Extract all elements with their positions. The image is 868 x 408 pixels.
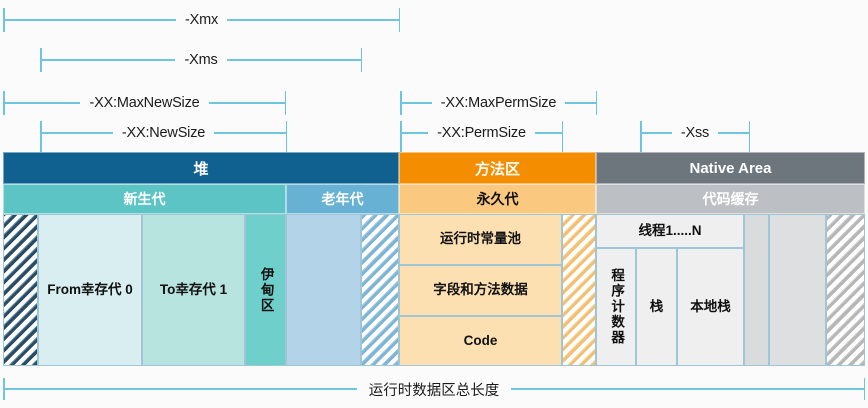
cell-field-method: 字段和方法数据 (399, 265, 562, 316)
cell-label-line: 栈 (650, 298, 664, 316)
bracket-permsize: -XX:PermSize (400, 118, 563, 148)
cell-young-pad-left (3, 214, 38, 366)
cell-label-line: 本地栈 (690, 298, 731, 316)
cell-thread-group: 线程1.....N (596, 214, 744, 248)
cell-old-gen-hatch (361, 214, 399, 366)
cell-label-line: Code (464, 332, 498, 350)
bracket-cap-right (285, 91, 287, 115)
cell-native-gap-2 (769, 214, 826, 366)
total-length-bracket: 运行时数据区总长度 (3, 374, 865, 404)
bracket-label: -XX:NewSize (113, 125, 214, 141)
cell-label-line: To (160, 281, 176, 299)
cell-label-line: From (47, 281, 81, 299)
cell-label-line: 运行时常量池 (440, 230, 521, 248)
total-bracket-cap-right (864, 378, 866, 400)
bracket-label: -Xss (672, 125, 718, 141)
header-native-area: Native Area (596, 152, 865, 184)
cell-stack: 栈 (636, 248, 677, 366)
cell-label-line: 幸存代 0 (81, 281, 133, 299)
cell-survivor-to: To幸存代 1 (142, 214, 245, 366)
cell-pc-register: 程序计数器 (596, 248, 636, 366)
bracket-cap-right (361, 48, 363, 72)
bracket-cap-right (399, 8, 401, 32)
header-method-area: 方法区 (399, 152, 596, 184)
cell-constant-pool: 运行时常量池 (399, 214, 562, 265)
total-bracket-cap-left (3, 378, 5, 400)
subheader-code-cache: 代码缓存 (596, 184, 865, 214)
cell-code: Code (399, 316, 562, 366)
cell-perm-hatch (562, 214, 596, 366)
cell-label-line: 线程1.....N (638, 222, 701, 240)
bracket-cap-left (3, 8, 5, 32)
bracket-newsize: -XX:NewSize (40, 118, 287, 148)
subheader-old-gen: 老年代 (286, 184, 399, 214)
bracket-label: -Xms (175, 52, 226, 68)
jvm-memory-diagram: -Xmx-Xms-XX:MaxNewSize-XX:MaxPermSize-XX… (0, 0, 868, 408)
bracket-cap-left (40, 48, 42, 72)
cell-native-stack: 本地栈 (677, 248, 744, 366)
bracket-xmx: -Xmx (3, 5, 400, 35)
cell-label-line: 幸存代 1 (175, 281, 227, 299)
bracket-xms: -Xms (40, 45, 362, 75)
header-heap: 堆 (3, 152, 399, 184)
bracket-label: -XX:MaxPermSize (432, 95, 565, 111)
bracket-cap-right (596, 91, 598, 115)
cell-label-line: 伊甸区 (256, 267, 274, 314)
bracket-cap-left (3, 91, 5, 115)
cell-native-gap-1 (744, 214, 769, 366)
subheader-young-gen: 新生代 (3, 184, 286, 214)
bracket-maxnewsize: -XX:MaxNewSize (3, 88, 286, 118)
bracket-label: -Xmx (176, 12, 227, 28)
bracket-xss: -Xss (640, 118, 750, 148)
total-bracket-label: 运行时数据区总长度 (357, 379, 512, 400)
memory-regions-table: 堆方法区Native Area 新生代老年代永久代代码缓存 From幸存代 0T… (3, 152, 865, 366)
cell-old-gen-body (286, 214, 361, 366)
bracket-label: -XX:MaxNewSize (80, 95, 208, 111)
cell-label-line: 程序计数器 (607, 268, 625, 346)
cell-label-line: 字段和方法数据 (433, 281, 528, 299)
cell-native-hatch (826, 214, 865, 366)
bracket-label: -XX:PermSize (428, 125, 535, 141)
subheader-perm-gen: 永久代 (399, 184, 596, 214)
bracket-maxpermsize: -XX:MaxPermSize (400, 88, 597, 118)
bracket-cap-left (400, 91, 402, 115)
cell-survivor-from: From幸存代 0 (38, 214, 142, 366)
cell-eden: 伊甸区 (245, 214, 286, 366)
